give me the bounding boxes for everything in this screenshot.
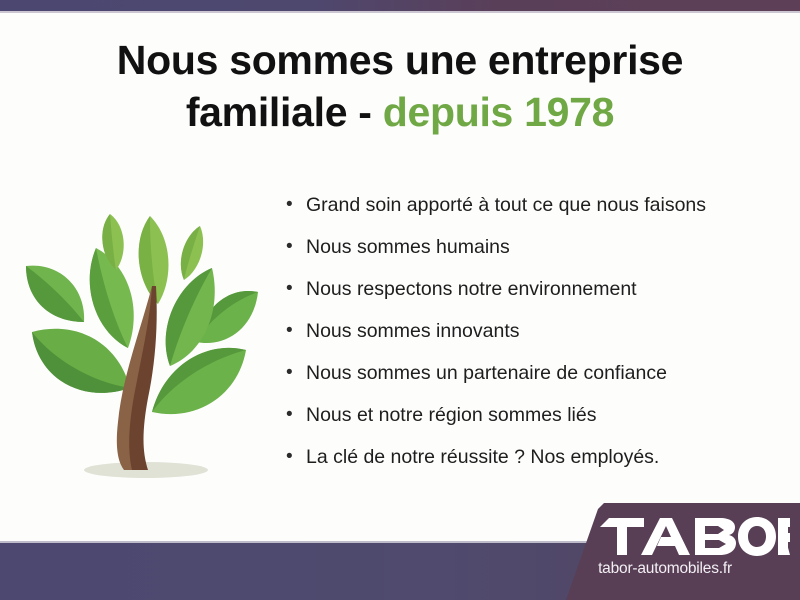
list-item-label: Nous respectons notre environnement <box>306 275 637 303</box>
bullet-marker-icon: • <box>286 191 306 219</box>
list-item-label: La clé de notre réussite ? Nos employés. <box>306 443 659 471</box>
leaf-top-right <box>181 226 203 280</box>
list-item-label: Grand soin apporté à tout ce que nous fa… <box>306 191 706 219</box>
page-title-line1: Nous sommes une entreprise <box>117 37 683 83</box>
bullet-marker-icon: • <box>286 233 306 261</box>
bullet-marker-icon: • <box>286 275 306 303</box>
list-item: • Nous sommes humains <box>286 233 756 275</box>
value-proposition-list: • Grand soin apporté à tout ce que nous … <box>286 191 756 485</box>
leaf-mid-left <box>26 266 84 322</box>
slide-canvas: Nous sommes une entreprise familiale - d… <box>0 0 800 600</box>
list-item: • Nous respectons notre environnement <box>286 275 756 317</box>
bullet-marker-icon: • <box>286 443 306 471</box>
list-item: • Nous et notre région sommes liés <box>286 401 756 443</box>
list-item: • Grand soin apporté à tout ce que nous … <box>286 191 756 233</box>
top-accent-bar-underline <box>0 11 800 13</box>
list-item: • Nous sommes innovants <box>286 317 756 359</box>
list-item: • Nous sommes un partenaire de confiance <box>286 359 756 401</box>
list-item-label: Nous sommes innovants <box>306 317 520 345</box>
top-accent-bar <box>0 0 800 11</box>
list-item-label: Nous sommes un partenaire de confiance <box>306 359 667 387</box>
list-item-label: Nous sommes humains <box>306 233 510 261</box>
bullet-marker-icon: • <box>286 401 306 429</box>
page-title-line2-accent: depuis 1978 <box>383 89 614 135</box>
list-item: • La clé de notre réussite ? Nos employé… <box>286 443 756 485</box>
page-title-line2-plain: familiale - <box>186 89 383 135</box>
page-title: Nous sommes une entreprise familiale - d… <box>40 34 760 139</box>
brand-wordmark <box>600 512 790 556</box>
bullet-marker-icon: • <box>286 359 306 387</box>
brand-tagline: tabor-automobiles.fr <box>536 560 794 578</box>
leaf-lower-right <box>152 348 246 414</box>
list-item-label: Nous et notre région sommes liés <box>306 401 596 429</box>
bullet-marker-icon: • <box>286 317 306 345</box>
tree-illustration <box>14 182 270 482</box>
